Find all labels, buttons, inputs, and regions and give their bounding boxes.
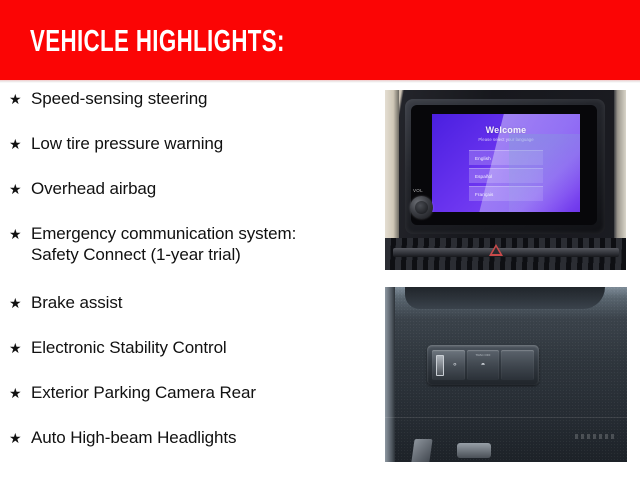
- list-item: ★ Low tire pressure warning: [0, 133, 372, 155]
- list-item-label: Low tire pressure warning: [31, 133, 372, 154]
- star-bullet-icon: ★: [9, 88, 31, 110]
- list-item-label: Speed-sensing steering: [31, 88, 372, 109]
- panel-seam: [385, 417, 627, 418]
- list-item-label: Electronic Stability Control: [31, 337, 372, 358]
- page-title: VEHICLE HIGHLIGHTS:: [30, 24, 285, 58]
- star-bullet-icon: ★: [9, 223, 31, 245]
- list-item: ★ Auto High-beam Headlights: [0, 427, 372, 449]
- traction-control-icon: ◓: [481, 361, 486, 369]
- blank-switch: [501, 350, 534, 380]
- star-bullet-icon: ★: [9, 178, 31, 200]
- switch-label: TRAC OFF: [476, 353, 491, 357]
- vent-slat: [393, 248, 619, 257]
- star-bullet-icon: ★: [9, 337, 31, 359]
- headlight-icon: ⚬: [452, 361, 459, 369]
- star-bullet-icon: ★: [9, 427, 31, 449]
- volume-label: VOL: [413, 188, 423, 193]
- list-item: ★ Exterior Parking Camera Rear: [0, 382, 372, 404]
- switch-row: ⚬ TRAC OFF ◓: [432, 350, 534, 380]
- panel-left-edge: [385, 287, 395, 462]
- star-bullet-icon: ★: [9, 292, 31, 314]
- list-item-label: Overhead airbag: [31, 178, 372, 199]
- switch-slider-icon: [436, 355, 444, 376]
- infotainment-photo: Welcome Please select your language Engl…: [385, 90, 626, 270]
- list-item-label-line1: Emergency communication system:: [31, 224, 296, 243]
- air-vents: [385, 238, 626, 270]
- panel-upper-shadow: [405, 287, 605, 309]
- list-item: ★ Speed-sensing steering: [0, 88, 372, 110]
- list-item-label: Exterior Parking Camera Rear: [31, 382, 372, 403]
- list-item: ★ Overhead airbag: [0, 178, 372, 200]
- screen-glare-secondary: [509, 134, 580, 212]
- list-item: ★ Emergency communication system: Safety…: [0, 223, 372, 265]
- header-banner: VEHICLE HIGHLIGHTS:: [0, 0, 640, 80]
- headlight-leveling-switch: ⚬: [432, 350, 465, 380]
- switch-panel-photo: ⚬ TRAC OFF ◓: [385, 287, 627, 462]
- list-item: ★ Electronic Stability Control: [0, 337, 372, 359]
- switch-housing: ⚬ TRAC OFF ◓: [427, 345, 539, 385]
- star-bullet-icon: ★: [9, 382, 31, 404]
- hazard-light-icon-inner: [492, 247, 500, 254]
- vehicle-highlights-list: ★ Speed-sensing steering ★ Low tire pres…: [0, 88, 372, 472]
- touchscreen-display: Welcome Please select your language Engl…: [432, 114, 580, 212]
- list-item-label-line2: Safety Connect (1-year trial): [31, 244, 372, 265]
- banner-divider: [0, 80, 640, 83]
- traction-control-switch: TRAC OFF ◓: [467, 350, 500, 380]
- panel-emboss-marking: [575, 434, 615, 439]
- list-item-label: Emergency communication system: Safety C…: [31, 223, 372, 265]
- star-bullet-icon: ★: [9, 133, 31, 155]
- list-item: ★ Brake assist: [0, 292, 372, 314]
- volume-knob: [410, 196, 433, 219]
- hood-release-lever: [411, 439, 432, 462]
- list-item-label: Auto High-beam Headlights: [31, 427, 372, 448]
- list-item-label: Brake assist: [31, 292, 372, 313]
- fuel-door-release: [457, 443, 491, 458]
